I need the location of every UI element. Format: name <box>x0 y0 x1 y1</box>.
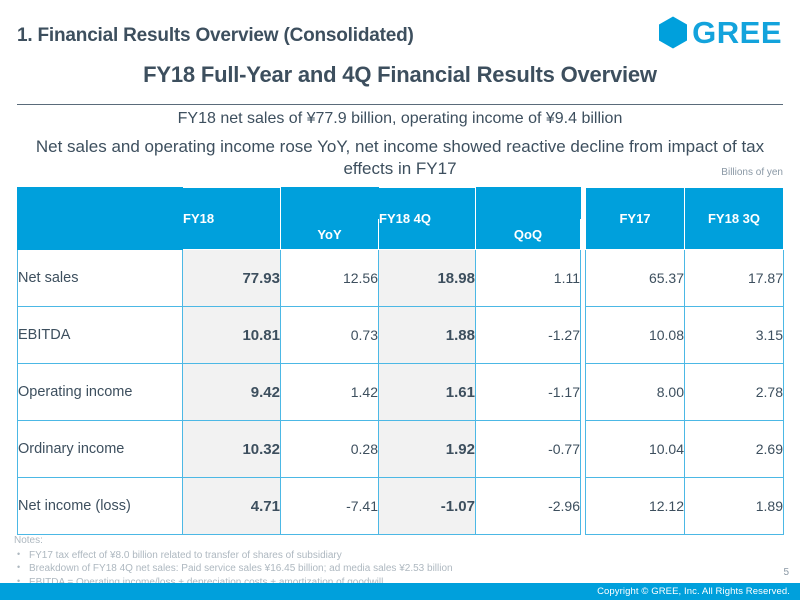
table-row: EBITDA 10.81 0.73 1.88 -1.27 <box>18 307 581 364</box>
note-item: FY17 tax effect of ¥8.0 billion related … <box>14 549 453 563</box>
row-label: Ordinary income <box>18 421 183 478</box>
gree-logo: GREE <box>658 16 782 49</box>
header-cell-spacer-qoq <box>476 188 581 219</box>
note-item: Breakdown of FY18 4Q net sales: Paid ser… <box>14 562 453 576</box>
hexagon-icon <box>658 16 688 49</box>
table-row: Operating income 9.42 1.42 1.61 -1.17 <box>18 364 581 421</box>
cell-fy18-4q: -1.07 <box>379 478 476 535</box>
table-row: 10.08 3.15 <box>586 307 784 364</box>
slide-header: 1. Financial Results Overview (Consolida… <box>0 0 800 98</box>
footer-bar: Copyright © GREE, Inc. All Rights Reserv… <box>0 583 800 600</box>
cell-qoq: 1.11 <box>476 250 581 307</box>
page-number: 5 <box>783 567 789 578</box>
cell-fy18-4q: 1.92 <box>379 421 476 478</box>
prior-period-table: FY17 FY18 3Q 65.37 17.87 10.08 3.15 8.00… <box>585 187 784 535</box>
header-cell-fy18-3q: FY18 3Q <box>685 188 784 250</box>
cell-fy18-4q: 1.61 <box>379 364 476 421</box>
notes-heading: Notes: <box>14 534 453 548</box>
cell-yoy: 1.42 <box>281 364 379 421</box>
table-row: 8.00 2.78 <box>586 364 784 421</box>
comparison-table-container: FY17 FY18 3Q 65.37 17.87 10.08 3.15 8.00… <box>585 187 784 535</box>
cell-fy17: 10.08 <box>586 307 685 364</box>
title-divider <box>17 104 783 105</box>
cell-yoy: -7.41 <box>281 478 379 535</box>
cell-yoy: 0.28 <box>281 421 379 478</box>
cell-fy18-3q: 1.89 <box>685 478 784 535</box>
cell-fy17: 65.37 <box>586 250 685 307</box>
table-row: Net income (loss) 4.71 -7.41 -1.07 -2.96 <box>18 478 581 535</box>
notes-section: Notes: FY17 tax effect of ¥8.0 billion r… <box>14 534 453 589</box>
cell-fy18-4q: 1.88 <box>379 307 476 364</box>
cell-qoq: -0.77 <box>476 421 581 478</box>
summary-line-2: Net sales and operating income rose YoY,… <box>30 136 770 180</box>
row-label: EBITDA <box>18 307 183 364</box>
table-body: 65.37 17.87 10.08 3.15 8.00 2.78 10.04 2… <box>586 250 784 535</box>
logo-wordmark: GREE <box>692 17 782 48</box>
copyright-text: Copyright © GREE, Inc. All Rights Reserv… <box>597 586 790 597</box>
cell-fy18: 10.32 <box>183 421 281 478</box>
main-table-container: FY18 FY18 4Q YoY QoQ Net sales 77.93 12.… <box>17 187 581 535</box>
table-head: FY18 FY18 4Q YoY QoQ <box>18 188 581 250</box>
table-row: 12.12 1.89 <box>586 478 784 535</box>
table-row: Net sales 77.93 12.56 18.98 1.11 <box>18 250 581 307</box>
cell-fy17: 12.12 <box>586 478 685 535</box>
cell-fy18: 77.93 <box>183 250 281 307</box>
header-cell-qoq: QoQ <box>476 219 581 250</box>
summary-line-1: FY18 net sales of ¥77.9 billion, operati… <box>0 110 800 128</box>
row-label: Operating income <box>18 364 183 421</box>
table-row: 10.04 2.69 <box>586 421 784 478</box>
header-cell-spacer-yoy <box>281 188 379 219</box>
cell-qoq: -1.27 <box>476 307 581 364</box>
financial-results-table: FY18 FY18 4Q YoY QoQ Net sales 77.93 12.… <box>17 187 581 535</box>
table-body: Net sales 77.93 12.56 18.98 1.11 EBITDA … <box>18 250 581 535</box>
cell-fy18: 9.42 <box>183 364 281 421</box>
page-title: FY18 Full-Year and 4Q Financial Results … <box>0 62 800 88</box>
cell-fy18: 4.71 <box>183 478 281 535</box>
cell-qoq: -1.17 <box>476 364 581 421</box>
cell-fy18: 10.81 <box>183 307 281 364</box>
cell-fy18-3q: 3.15 <box>685 307 784 364</box>
cell-fy18-3q: 2.78 <box>685 364 784 421</box>
header-row: FY17 FY18 3Q <box>586 188 784 250</box>
table-row: Ordinary income 10.32 0.28 1.92 -0.77 <box>18 421 581 478</box>
section-title: 1. Financial Results Overview (Consolida… <box>17 25 414 47</box>
cell-yoy: 12.56 <box>281 250 379 307</box>
header-cell-fy17: FY17 <box>586 188 685 250</box>
header-cell-fy18: FY18 <box>183 188 281 250</box>
cell-fy17: 10.04 <box>586 421 685 478</box>
table-row: 65.37 17.87 <box>586 250 784 307</box>
row-label: Net income (loss) <box>18 478 183 535</box>
header-row-primary: FY18 FY18 4Q <box>18 188 581 219</box>
cell-yoy: 0.73 <box>281 307 379 364</box>
cell-fy18-4q: 18.98 <box>379 250 476 307</box>
cell-qoq: -2.96 <box>476 478 581 535</box>
cell-fy18-3q: 2.69 <box>685 421 784 478</box>
header-cell-corner <box>18 188 183 250</box>
header-cell-yoy: YoY <box>281 219 379 250</box>
cell-fy17: 8.00 <box>586 364 685 421</box>
table-head: FY17 FY18 3Q <box>586 188 784 250</box>
unit-label: Billions of yen <box>721 167 783 178</box>
cell-fy18-3q: 17.87 <box>685 250 784 307</box>
header-cell-fy18-4q: FY18 4Q <box>379 188 476 250</box>
row-label: Net sales <box>18 250 183 307</box>
